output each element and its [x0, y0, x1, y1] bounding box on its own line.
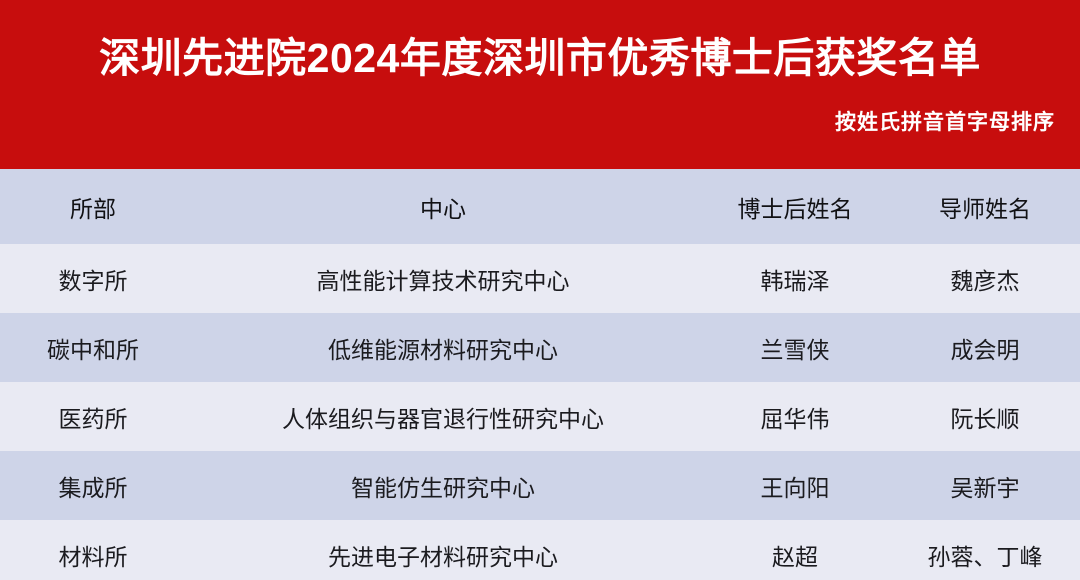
column-header-mentor-name: 导师姓名 [890, 190, 1080, 224]
cell-postdoc: 韩瑞泽 [700, 262, 890, 296]
table-row: 材料所 先进电子材料研究中心 赵超 孙蓉、丁峰 [0, 520, 1080, 580]
column-header-postdoc-name: 博士后姓名 [700, 190, 890, 224]
table-row: 医药所 人体组织与器官退行性研究中心 屈华伟 阮长顺 [0, 382, 1080, 451]
cell-mentor: 魏彦杰 [890, 262, 1080, 296]
poster-title: 深圳先进院2024年度深圳市优秀博士后获奖名单 [0, 29, 1080, 87]
cell-department: 数字所 [0, 262, 186, 296]
awardees-table: 所部 中心 博士后姓名 导师姓名 数字所 高性能计算技术研究中心 韩瑞泽 魏彦杰… [0, 169, 1080, 580]
cell-postdoc: 王向阳 [700, 469, 890, 503]
cell-center: 低维能源材料研究中心 [186, 331, 700, 365]
table-header-row: 所部 中心 博士后姓名 导师姓名 [0, 169, 1080, 244]
cell-department: 材料所 [0, 538, 186, 572]
cell-mentor: 吴新宇 [890, 469, 1080, 503]
cell-center: 先进电子材料研究中心 [186, 538, 700, 572]
table-row: 数字所 高性能计算技术研究中心 韩瑞泽 魏彦杰 [0, 244, 1080, 313]
award-list-poster: 深圳先进院2024年度深圳市优秀博士后获奖名单 按姓氏拼音首字母排序 所部 中心… [0, 0, 1080, 580]
cell-mentor: 孙蓉、丁峰 [890, 538, 1080, 572]
cell-center: 高性能计算技术研究中心 [186, 262, 700, 296]
cell-mentor: 阮长顺 [890, 400, 1080, 434]
cell-mentor: 成会明 [890, 331, 1080, 365]
cell-department: 碳中和所 [0, 331, 186, 365]
poster-banner: 深圳先进院2024年度深圳市优秀博士后获奖名单 按姓氏拼音首字母排序 [0, 0, 1080, 169]
table-row: 集成所 智能仿生研究中心 王向阳 吴新宇 [0, 451, 1080, 520]
column-header-department: 所部 [0, 190, 186, 224]
cell-center: 智能仿生研究中心 [186, 469, 700, 503]
cell-postdoc: 屈华伟 [700, 400, 890, 434]
cell-department: 集成所 [0, 469, 186, 503]
poster-subtitle: 按姓氏拼音首字母排序 [835, 106, 1055, 140]
cell-postdoc: 兰雪侠 [700, 331, 890, 365]
cell-postdoc: 赵超 [700, 538, 890, 572]
cell-department: 医药所 [0, 400, 186, 434]
column-header-center: 中心 [186, 190, 700, 224]
cell-center: 人体组织与器官退行性研究中心 [186, 400, 700, 434]
table-row: 碳中和所 低维能源材料研究中心 兰雪侠 成会明 [0, 313, 1080, 382]
